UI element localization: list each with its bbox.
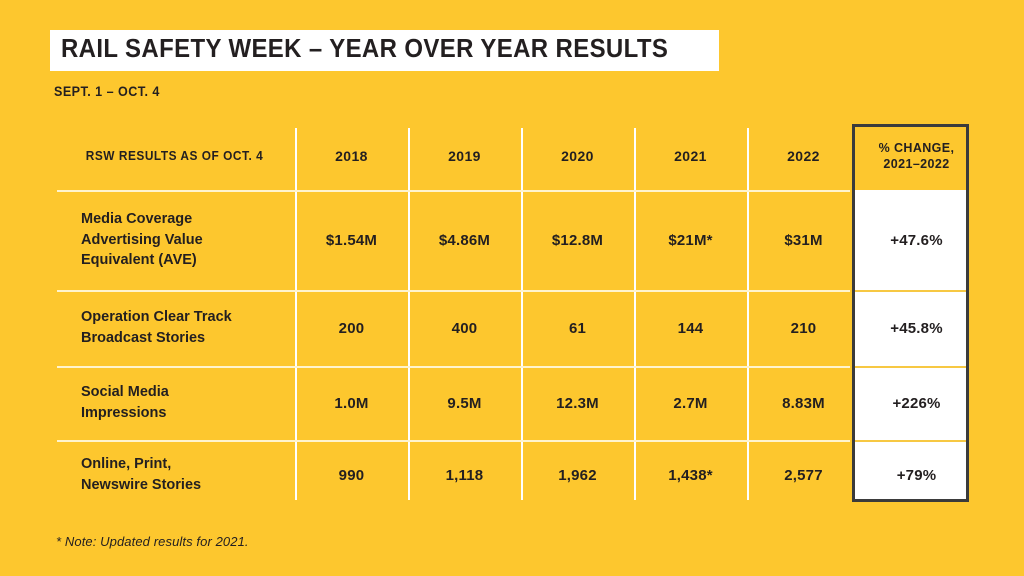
- column-header-2018: 2018: [295, 122, 408, 190]
- date-range-subtitle: SEPT. 1 – OCT. 4: [54, 84, 160, 99]
- title-banner: RAIL SAFETY WEEK – YEAR OVER YEAR RESULT…: [50, 30, 719, 71]
- row-divider-highlight: [852, 290, 970, 292]
- column-divider: [747, 128, 749, 500]
- cell-value: $4.86M: [408, 190, 521, 290]
- table-body: Media Coverage Advertising Value Equival…: [57, 190, 973, 510]
- cell-percent-change: +45.8%: [860, 290, 973, 366]
- row-label-line: Newswire Stories: [81, 475, 295, 496]
- table-header-row: RSW RESULTS AS OF OCT. 4 2018 2019 2020 …: [57, 122, 973, 190]
- cell-value: 210: [747, 290, 860, 366]
- row-divider-highlight: [852, 440, 970, 442]
- column-header-label: RSW RESULTS AS OF OCT. 4: [63, 122, 289, 190]
- cell-value: 144: [634, 290, 747, 366]
- row-label-line: Media Coverage: [81, 209, 295, 230]
- cell-percent-change: +47.6%: [860, 190, 973, 290]
- column-header-2020: 2020: [521, 122, 634, 190]
- results-table-container: RSW RESULTS AS OF OCT. 4 2018 2019 2020 …: [57, 122, 970, 502]
- cell-value: 61: [521, 290, 634, 366]
- row-label-line: Broadcast Stories: [81, 328, 295, 349]
- cell-percent-change: +79%: [860, 440, 973, 510]
- cell-value: 990: [295, 440, 408, 510]
- cell-value: $21M*: [634, 190, 747, 290]
- row-label-media-coverage: Media Coverage Advertising Value Equival…: [57, 190, 295, 290]
- table-row: Online, Print, Newswire Stories 990 1,11…: [57, 440, 973, 510]
- column-divider: [295, 128, 297, 500]
- cell-percent-change: +226%: [860, 366, 973, 440]
- cell-value: 1.0M: [295, 366, 408, 440]
- slide-root: RAIL SAFETY WEEK – YEAR OVER YEAR RESULT…: [0, 0, 1024, 576]
- column-header-2019: 2019: [408, 122, 521, 190]
- row-label-social-media: Social Media Impressions: [57, 366, 295, 440]
- row-label-line: Online, Print,: [81, 454, 295, 475]
- page-title: RAIL SAFETY WEEK – YEAR OVER YEAR RESULT…: [61, 37, 668, 63]
- column-divider: [408, 128, 410, 500]
- cell-value: 1,962: [521, 440, 634, 510]
- table-row: Media Coverage Advertising Value Equival…: [57, 190, 973, 290]
- cell-value: $1.54M: [295, 190, 408, 290]
- row-label-line: Equivalent (AVE): [81, 250, 295, 271]
- cell-value: 2,577: [747, 440, 860, 510]
- column-divider: [521, 128, 523, 500]
- cell-value: 1,118: [408, 440, 521, 510]
- row-label-line: Social Media: [81, 382, 295, 403]
- column-header-2022: 2022: [747, 122, 860, 190]
- row-divider: [57, 190, 850, 192]
- results-table: RSW RESULTS AS OF OCT. 4 2018 2019 2020 …: [57, 122, 973, 510]
- cell-value: 1,438*: [634, 440, 747, 510]
- column-divider: [634, 128, 636, 500]
- column-header-percent-change: % CHANGE, 2021–2022: [860, 122, 973, 190]
- cell-value: $12.8M: [521, 190, 634, 290]
- cell-value: 12.3M: [521, 366, 634, 440]
- cell-value: 2.7M: [634, 366, 747, 440]
- cell-value: 9.5M: [408, 366, 521, 440]
- row-label-operation-clear-track: Operation Clear Track Broadcast Stories: [57, 290, 295, 366]
- row-divider: [57, 290, 850, 292]
- cell-value: 200: [295, 290, 408, 366]
- percent-change-header-line1: % CHANGE,: [860, 140, 973, 157]
- table-row: Social Media Impressions 1.0M 9.5M 12.3M…: [57, 366, 973, 440]
- row-divider: [57, 440, 850, 442]
- row-label-online-print: Online, Print, Newswire Stories: [57, 440, 295, 510]
- row-label-line: Impressions: [81, 403, 295, 424]
- row-divider-highlight: [852, 366, 970, 368]
- cell-value: 400: [408, 290, 521, 366]
- footnote-note: * Note: Updated results for 2021.: [56, 534, 249, 549]
- row-label-line: Operation Clear Track: [81, 307, 295, 328]
- cell-value: 8.83M: [747, 366, 860, 440]
- cell-value: $31M: [747, 190, 860, 290]
- percent-change-header-line2: 2021–2022: [860, 156, 973, 173]
- table-row: Operation Clear Track Broadcast Stories …: [57, 290, 973, 366]
- row-label-line: Advertising Value: [81, 230, 295, 251]
- row-divider: [57, 366, 850, 368]
- column-header-2021: 2021: [634, 122, 747, 190]
- table-head: RSW RESULTS AS OF OCT. 4 2018 2019 2020 …: [57, 122, 973, 190]
